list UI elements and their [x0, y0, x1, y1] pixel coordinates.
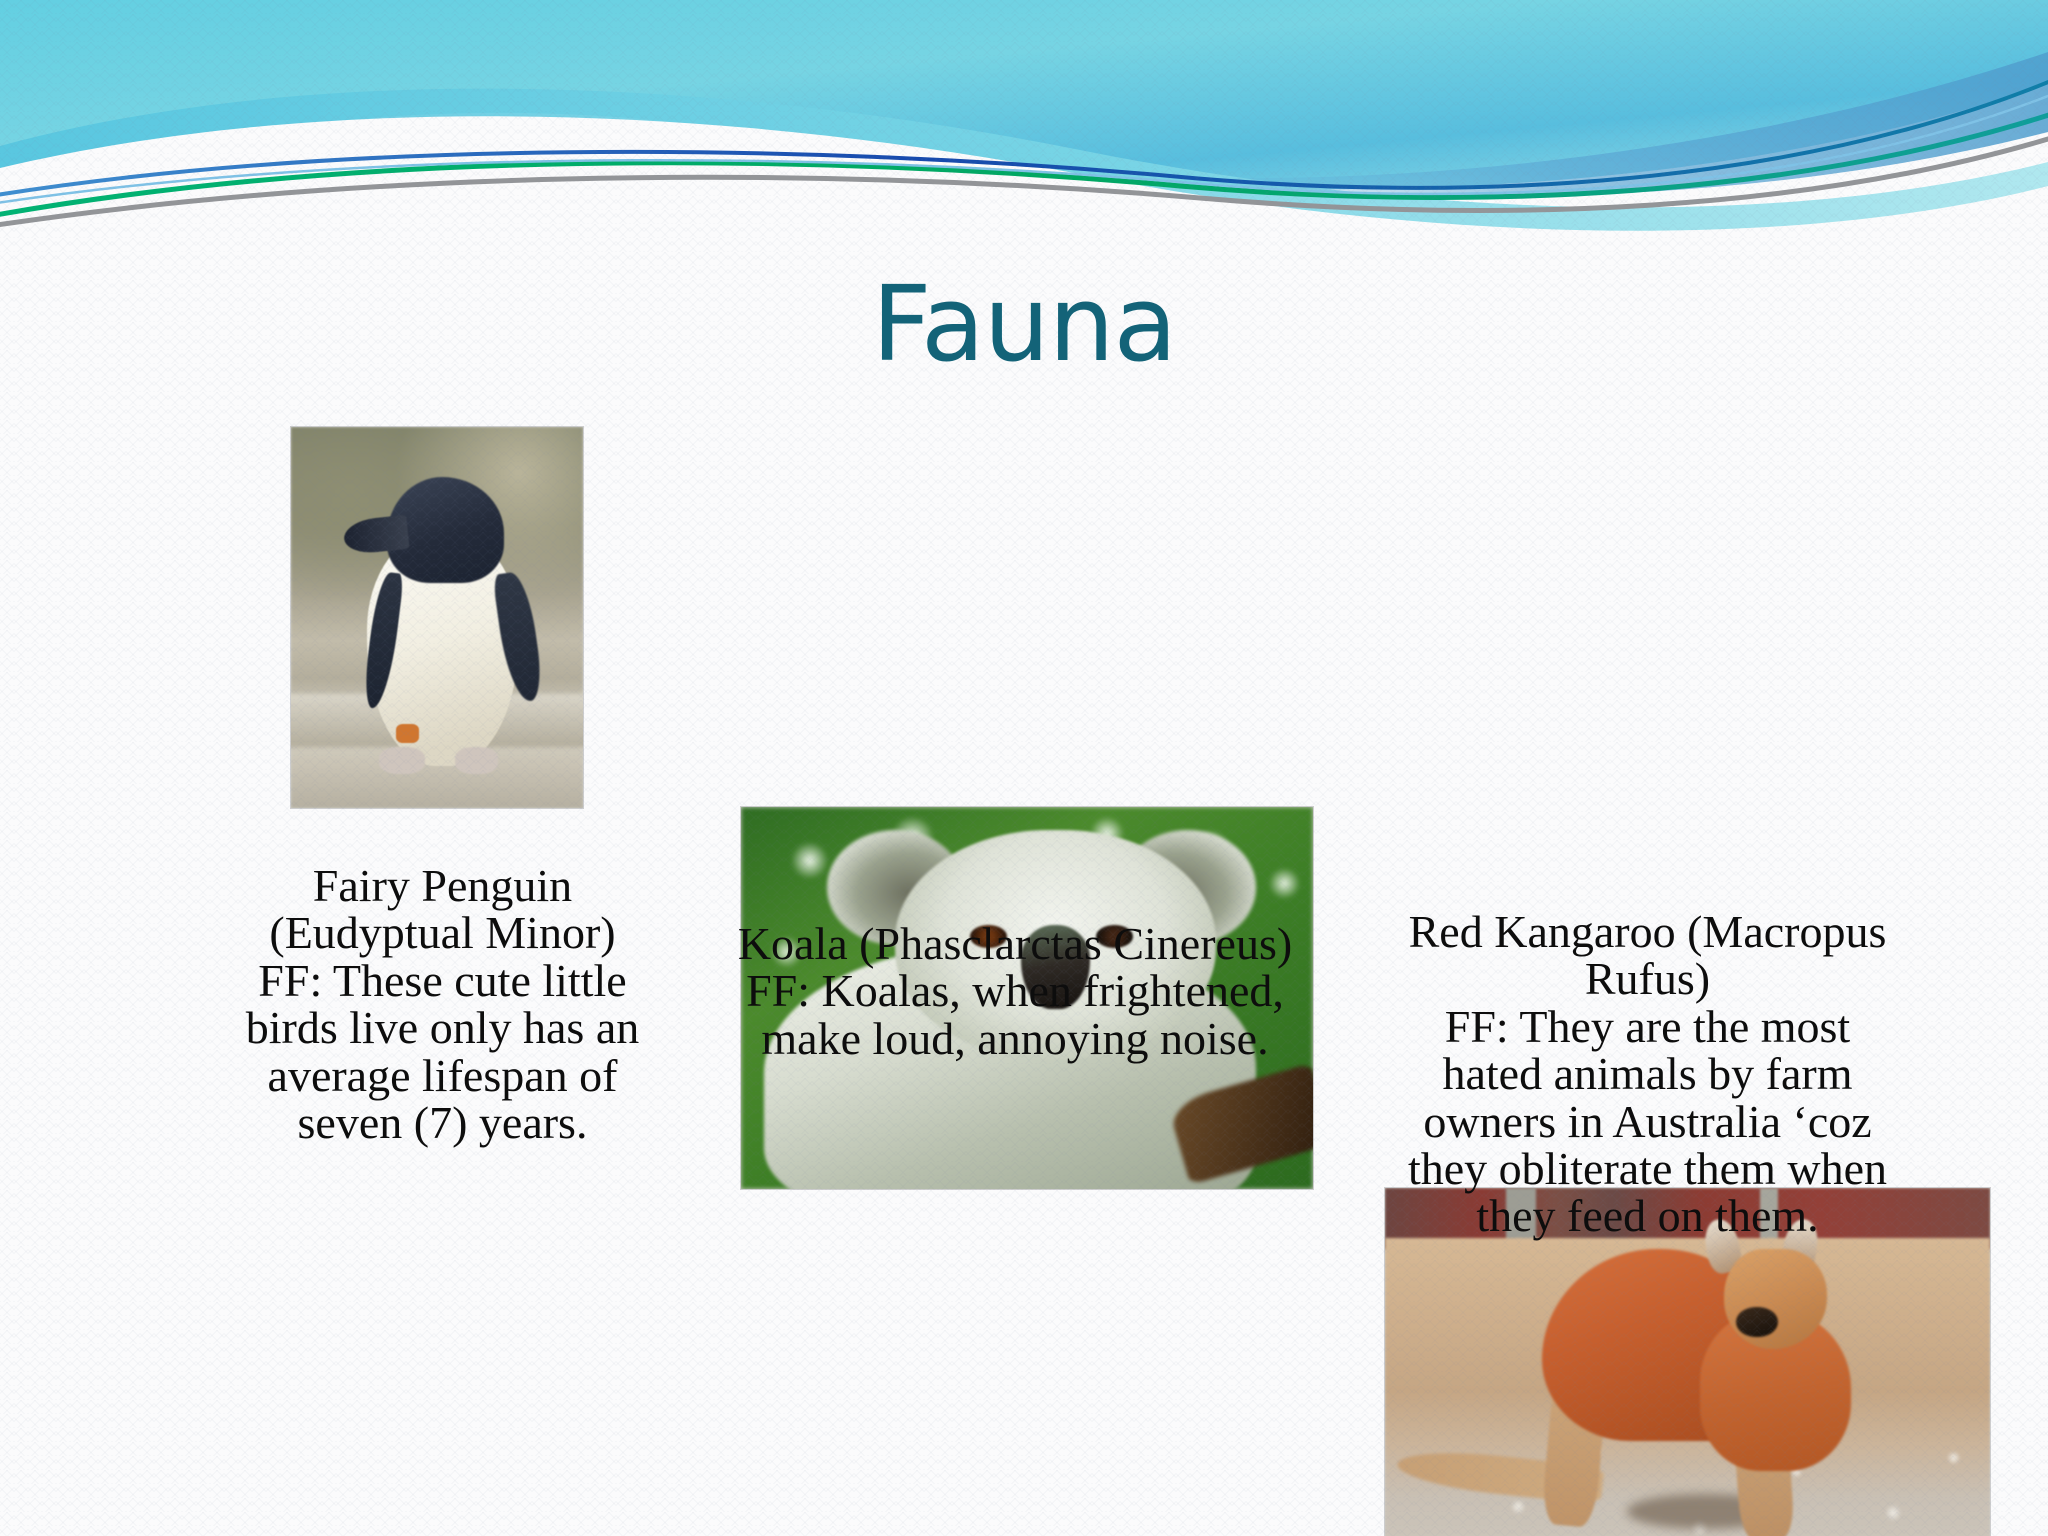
- slide-header-banner: [0, 0, 2048, 240]
- penguin-right-foot: [455, 747, 499, 774]
- kangaroo-head: [1724, 1249, 1827, 1349]
- penguin-leg-band: [396, 724, 419, 743]
- kangaroo-snout: [1736, 1307, 1778, 1338]
- fairy-penguin-photo: [291, 427, 583, 808]
- penguin-left-foot: [379, 747, 426, 774]
- red-kangaroo-caption: Red Kangaroo (Macropus Rufus) FF: They a…: [1395, 908, 1900, 1240]
- page-title: Fauna: [0, 272, 2048, 376]
- fairy-penguin-caption: Fairy Penguin (Eudyptual Minor) FF: Thes…: [215, 862, 670, 1146]
- koala-caption: Koala (Phasclarctas Cinereus) FF: Koalas…: [735, 920, 1295, 1062]
- flow-theme-wave-graphic: [0, 0, 2048, 240]
- presentation-slide: Fauna Fairy Penguin (Eudyptual Minor) FF…: [0, 0, 2048, 1536]
